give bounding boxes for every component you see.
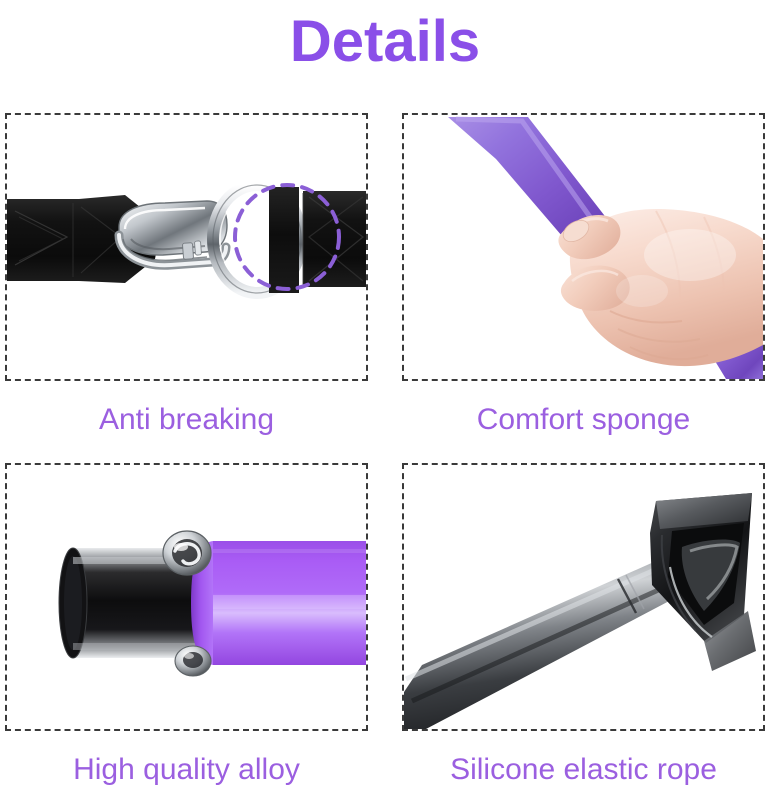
photo-high-quality-alloy — [7, 465, 366, 729]
panel-silicone-elastic-rope — [402, 463, 765, 731]
page-title: Details — [0, 6, 770, 78]
caption-comfort-sponge: Comfort sponge — [402, 400, 765, 440]
details-infographic: Details — [0, 0, 770, 800]
panel-anti-breaking — [5, 113, 368, 381]
panel-high-quality-alloy — [5, 463, 368, 731]
caption-anti-breaking: Anti breaking — [5, 400, 368, 440]
photo-comfort-sponge — [404, 115, 763, 379]
comfort-sponge-illustration — [404, 115, 763, 379]
caption-high-quality-alloy: High quality alloy — [5, 750, 368, 790]
panel-comfort-sponge — [402, 113, 765, 381]
photo-silicone-elastic-rope — [404, 465, 763, 729]
ring-wrap-strap — [269, 187, 299, 293]
alloy-illustration — [7, 465, 366, 729]
photo-anti-breaking — [7, 115, 366, 379]
rope-illustration — [404, 465, 763, 729]
anti-breaking-illustration — [7, 115, 366, 379]
caption-silicone-elastic-rope: Silicone elastic rope — [402, 750, 765, 790]
right-strap — [303, 191, 366, 287]
